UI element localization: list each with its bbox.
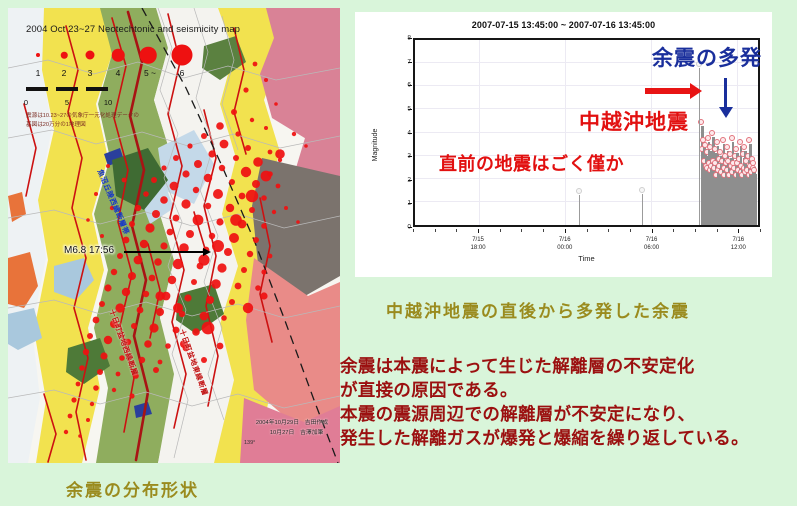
gridline-vertical — [565, 40, 566, 225]
map-credit: 2004年10月29日 吉田作成 10月27日 吉澤加筆 — [256, 418, 328, 439]
event-marker — [709, 130, 715, 136]
event-marker — [724, 144, 730, 150]
explanation-line-4: 発生した解離ガスが爆発と爆縮を繰り返している。 — [340, 427, 792, 451]
annotation-mainshock: 中越沖地震 — [579, 106, 689, 136]
event-marker — [750, 160, 756, 166]
chart-x-tick-mark — [673, 229, 674, 232]
chart-y-tick-mark — [408, 227, 412, 228]
scale-seg-1 — [26, 87, 48, 91]
chart-x-tick-mark — [695, 229, 696, 232]
legend-note-line-1: 震源は10.23~27の気象庁一元化処理データの — [26, 112, 176, 121]
chart-y-axis-label: Magnitude — [372, 128, 379, 161]
chart-x-tick-mark-major — [565, 229, 566, 233]
chart-x-tick-label: 7/1606:00 — [644, 236, 659, 252]
explanation-line-2: が直接の原因である。 — [340, 379, 792, 403]
legend-dot-3 — [86, 51, 95, 60]
map-scale-bar — [26, 87, 146, 98]
red-arrow-icon — [645, 88, 691, 94]
scale-label-0: 0 — [24, 98, 28, 107]
event-marker — [576, 188, 582, 194]
gridline-horizontal — [415, 85, 758, 86]
event-marker — [741, 144, 747, 150]
legend-label-4: 4 — [116, 68, 121, 78]
chart-y-tick-mark — [408, 180, 412, 181]
gridline-vertical — [479, 40, 480, 225]
chart-x-tick-mark — [630, 229, 631, 232]
scale-seg-3 — [86, 87, 108, 91]
legend-label-6: 6 — [180, 68, 185, 78]
chart-y-tick-mark — [408, 38, 412, 39]
chart-x-axis-label: Time — [413, 254, 760, 263]
chart-x-tick-mark — [587, 229, 588, 232]
legend-magnitude-dots — [26, 42, 206, 68]
legend-label-3: 3 — [88, 68, 93, 78]
event-marker — [720, 137, 726, 143]
map-legend-note: 震源は10.23~27の気象庁一元化処理データの 基図は20万分の1地理図 — [26, 112, 176, 129]
scale-label-5: 5 — [65, 98, 69, 107]
legend-label-2: 2 — [62, 68, 67, 78]
explanation-text: 余震は本震によって生じた解離層の不安定化 が直接の原因である。 本震の震源周辺で… — [340, 355, 792, 452]
chart-x-tick-label: 7/1612:00 — [731, 236, 746, 252]
magnitude-time-chart-panel: 2007-07-15 13:45:00 ~ 2007-07-16 13:45:0… — [355, 12, 772, 277]
legend-magnitude-labels: 1 2 3 4 5 ~ 6 — [26, 68, 206, 80]
map-caption: 余震の分布形状 — [66, 476, 199, 501]
event-marker — [639, 187, 645, 193]
foreshock-stem — [642, 194, 643, 225]
map-credit-line-1: 2004年10月29日 吉田作成 — [256, 418, 328, 429]
chart-y-tick-mark — [408, 85, 412, 86]
chart-y-tick-mark — [408, 109, 412, 110]
chart-caption: 中越沖地震の直後から多発した余震 — [386, 297, 690, 322]
neotectonic-map-panel: 2004 Oct 23~27 Neotechtonic and seismici… — [8, 8, 340, 463]
chart-x-tick-mark-major — [478, 229, 479, 233]
event-marker — [751, 167, 757, 173]
legend-dot-2 — [61, 52, 68, 59]
chart-x-tick-mark-major — [652, 229, 653, 233]
chart-title: 2007-07-15 13:45:00 ~ 2007-07-16 13:45:0… — [355, 20, 772, 30]
chart-x-tick-mark — [435, 229, 436, 232]
explanation-line-3: 本震の震源周辺での解離層が不安定になり、 — [340, 403, 792, 427]
chart-x-tick-mark — [760, 229, 761, 232]
legend-dot-6 — [172, 45, 193, 66]
chart-y-tick-mark — [408, 133, 412, 134]
blue-arrow-icon — [724, 78, 727, 108]
event-marker — [733, 146, 739, 152]
legend-dot-1 — [36, 53, 40, 57]
slide-canvas: 2004 Oct 23~27 Neotechtonic and seismici… — [0, 0, 797, 506]
map-grid-tick-label: 139° — [244, 440, 255, 446]
epicenter-arrow-icon — [124, 251, 208, 253]
gridline-horizontal — [415, 39, 758, 40]
map-title: 2004 Oct 23~27 Neotechtonic and seismici… — [26, 24, 206, 35]
scale-label-10: 10 — [104, 98, 112, 107]
chart-x-tick-mark — [500, 229, 501, 232]
chart-x-tick-label: 7/1600:00 — [557, 236, 572, 252]
explanation-line-1: 余震は本震によって生じた解離層の不安定化 — [340, 355, 792, 379]
legend-dot-5 — [140, 47, 157, 64]
chart-x-tick-mark — [608, 229, 609, 232]
chart-x-tick-mark — [456, 229, 457, 232]
chart-y-tick-mark — [408, 156, 412, 157]
chart-x-tick-label: 7/1518:00 — [471, 236, 486, 252]
chart-x-tick-mark — [717, 229, 718, 232]
chart-x-tick-mark — [521, 229, 522, 232]
epicenter-label: M6.8 17:56 — [64, 245, 114, 256]
annotation-aftershock-swarm: 余震の多発 — [652, 42, 762, 72]
chart-y-tick-mark — [408, 203, 412, 204]
annotation-few-foreshocks: 直前の地震はごく僅か — [439, 150, 624, 176]
chart-y-tick-mark — [408, 62, 412, 63]
map-scale-labels: 0 5 10 — [26, 98, 146, 108]
event-marker — [729, 135, 735, 141]
chart-x-tick-mark — [543, 229, 544, 232]
map-credit-line-2: 10月27日 吉澤加筆 — [256, 428, 328, 439]
foreshock-stem — [579, 195, 580, 225]
map-legend: 2004 Oct 23~27 Neotechtonic and seismici… — [26, 24, 206, 129]
legend-note-line-2: 基図は20万分の1地理図 — [26, 121, 176, 130]
chart-x-tick-mark — [413, 229, 414, 232]
chart-x-tick-mark-major — [738, 229, 739, 233]
scale-seg-2 — [56, 87, 78, 91]
legend-label-5: 5 ~ — [144, 68, 156, 78]
legend-dot-4 — [112, 49, 125, 62]
event-marker — [746, 137, 752, 143]
aftershock-stem — [754, 174, 756, 225]
legend-label-1: 1 — [36, 68, 41, 78]
